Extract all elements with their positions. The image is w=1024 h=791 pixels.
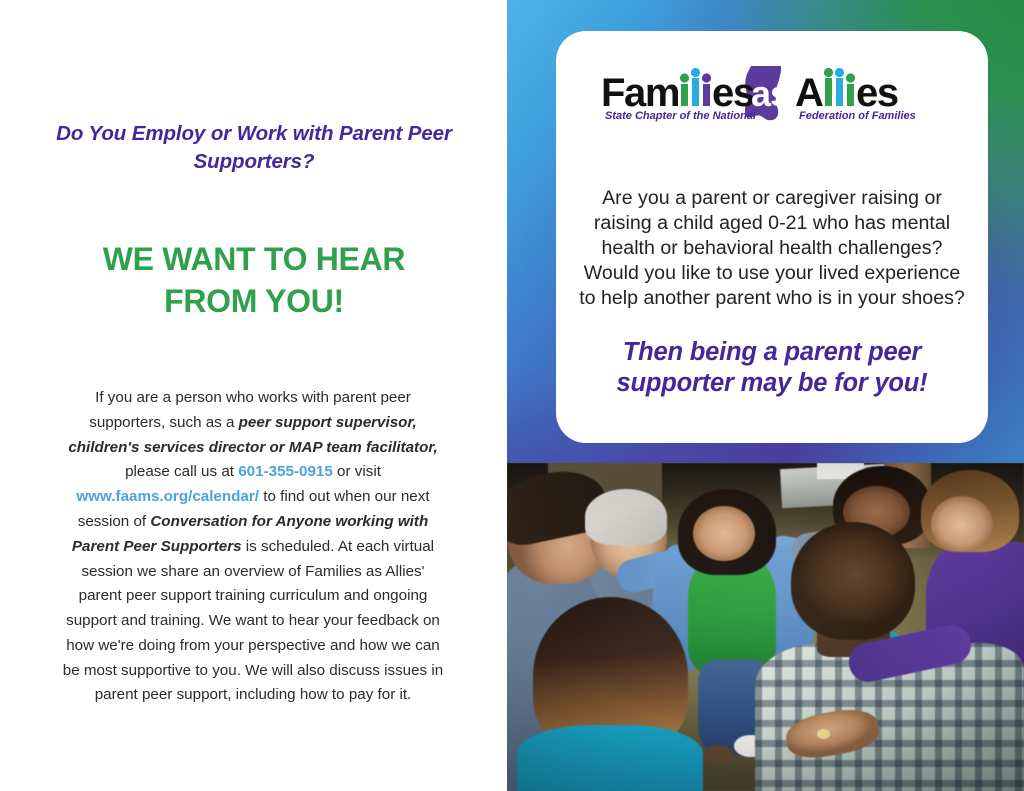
left-panel-shout: WE WANT TO HEAR FROM YOU! [48, 238, 460, 322]
card-lead-text: Are you a parent or caregiver raising or… [576, 186, 968, 310]
photo-person-right-woman-face [931, 496, 993, 552]
body-seg-2: please call us at [125, 463, 238, 480]
group-photo [507, 463, 1024, 791]
shout-line-2: FROM YOU! [48, 280, 460, 322]
logo-wordmark: Fam es as A [599, 64, 945, 122]
photo-person-elder-hair [585, 489, 668, 545]
photo-person-foreground-woman-top [517, 725, 703, 791]
logo-tagline-left: State Chapter of the National [605, 110, 757, 122]
svg-text:A: A [795, 71, 823, 115]
left-panel: Do You Employ or Work with Parent Peer S… [0, 0, 507, 791]
body-seg-5: is scheduled. At each virtual session we… [63, 538, 443, 704]
card-cta-text: Then being a parent peer supporter may b… [576, 337, 968, 399]
shout-line-1: WE WANT TO HEAR [48, 238, 460, 280]
photo-foreground-man-head [791, 522, 915, 640]
svg-text:as: as [751, 73, 789, 114]
right-panel: Fam es as A [507, 0, 1024, 791]
left-panel-heading: Do You Employ or Work with Parent Peer S… [48, 120, 460, 175]
logo-families-as-allies: Fam es as A [556, 64, 988, 154]
photo-center-woman-face [693, 506, 755, 562]
info-card: Fam es as A [556, 31, 988, 443]
svg-text:es: es [712, 71, 754, 115]
photo-scene [507, 463, 1024, 791]
website-link[interactable]: www.faams.org/calendar/ [76, 488, 259, 505]
flyer-page: Do You Employ or Work with Parent Peer S… [0, 0, 1024, 791]
photo-center-woman-shoe-left [703, 745, 734, 765]
logo-svg: Fam es as A [599, 64, 945, 122]
svg-text:es: es [856, 71, 898, 115]
body-seg-3: or visit [333, 463, 381, 480]
phone-link[interactable]: 601-355-0915 [238, 463, 333, 480]
photo-foreground-ring [817, 729, 829, 739]
left-panel-body: If you are a person who works with paren… [58, 386, 448, 708]
svg-text:Fam: Fam [601, 71, 679, 115]
logo-tagline-right: Federation of Families [799, 110, 916, 122]
